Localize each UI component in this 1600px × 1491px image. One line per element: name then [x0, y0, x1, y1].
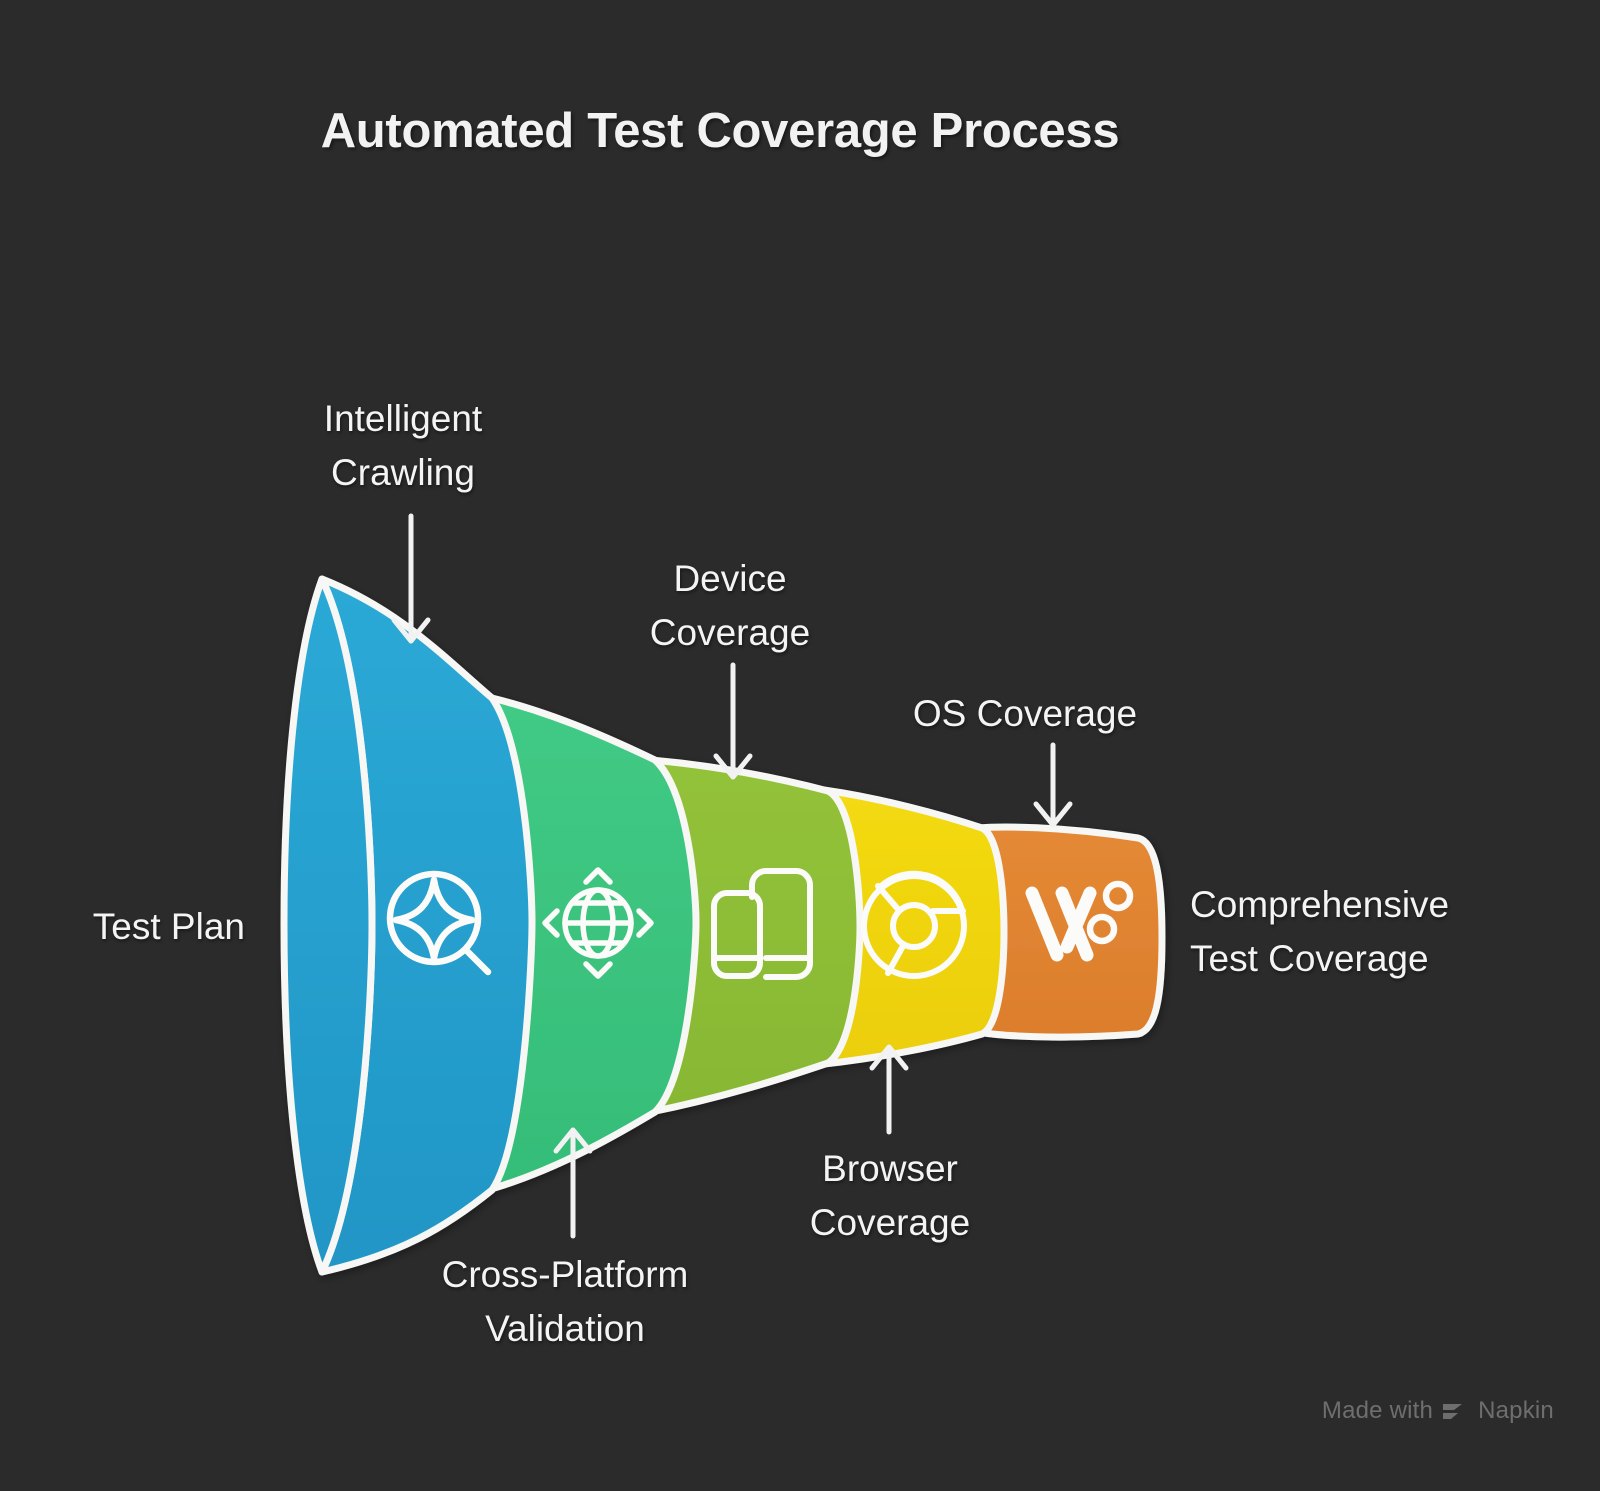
- watermark-brand: Napkin: [1478, 1397, 1554, 1425]
- funnel-input-label: Test Plan: [20, 900, 245, 954]
- callout-arrow-os-coverage: [1036, 745, 1070, 825]
- funnel-output-label: Comprehensive Test Coverage: [1190, 878, 1585, 985]
- napkin-watermark: Made with Napkin: [1322, 1397, 1554, 1425]
- stage-label-os-coverage: OS Coverage: [830, 687, 1220, 741]
- stage-label-intelligent-crawling: Intelligent Crawling: [238, 392, 568, 499]
- callout-arrow-cross-platform-validation: [556, 1130, 590, 1236]
- callout-arrow-browser-coverage: [872, 1047, 906, 1132]
- watermark-prefix: Made with: [1322, 1397, 1433, 1425]
- stage-label-cross-platform-validation: Cross-Platform Validation: [320, 1248, 810, 1355]
- stage-label-device-coverage: Device Coverage: [575, 552, 885, 659]
- stage-label-browser-coverage: Browser Coverage: [700, 1142, 1080, 1249]
- callout-arrow-device-coverage: [716, 665, 750, 777]
- napkin-logo-icon: [1442, 1400, 1469, 1422]
- diagram-canvas: Automated Test Coverage Process: [0, 0, 1600, 1491]
